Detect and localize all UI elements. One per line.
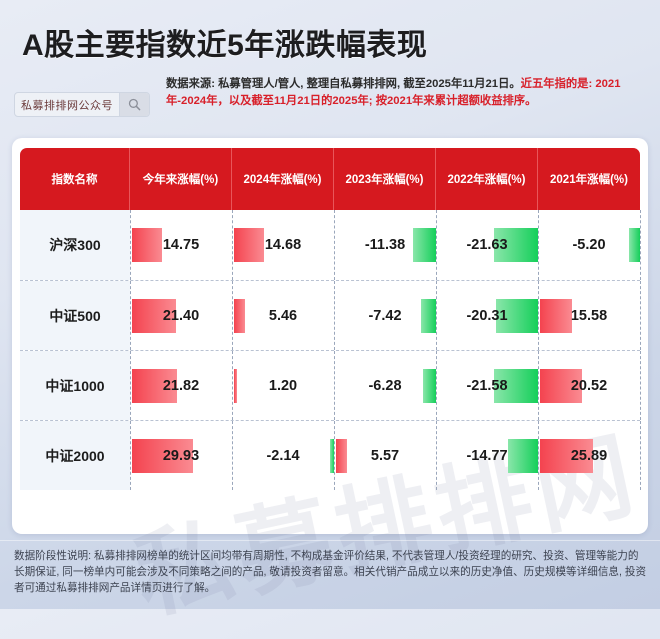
- value-label: -2.14: [232, 439, 334, 473]
- column-header-2023: 2023年涨幅(%): [334, 148, 436, 210]
- column-header-2021: 2021年涨幅(%): [538, 148, 640, 210]
- value-label: 1.20: [232, 369, 334, 403]
- column-header-2024: 2024年涨幅(%): [232, 148, 334, 210]
- value-label: -5.20: [538, 228, 640, 262]
- column-header-ytd: 今年来涨幅(%): [130, 148, 232, 210]
- value-label: 5.46: [232, 299, 334, 333]
- column-header-name: 指数名称: [20, 148, 130, 210]
- value-label: 5.57: [334, 439, 436, 473]
- table-body: 沪深30014.7514.68-11.38-21.63-5.20中证50021.…: [20, 210, 640, 524]
- footer-disclaimer: 数据阶段性说明: 私募排排网榜单的统计区间均带有周期性, 不构成基金评价结果, …: [14, 548, 648, 596]
- table-card: 指数名称 今年来涨幅(%) 2024年涨幅(%) 2023年涨幅(%) 2022…: [12, 138, 648, 534]
- zero-axis-line: [640, 281, 641, 350]
- value-label: -14.77: [436, 439, 538, 473]
- value-label: 15.58: [538, 299, 640, 333]
- subtitle-source: 数据来源: 私募管理人/管人, 整理自私募排排网, 截至2025年11月21日。: [166, 78, 521, 90]
- search-icon[interactable]: [119, 93, 149, 116]
- value-label: 25.89: [538, 439, 640, 473]
- zero-axis-line: [640, 351, 641, 420]
- table-header-row: 指数名称 今年来涨幅(%) 2024年涨幅(%) 2023年涨幅(%) 2022…: [20, 148, 640, 210]
- bar-layer: 29.93-2.145.57-14.7725.89: [20, 421, 640, 490]
- value-label: 14.75: [130, 228, 232, 262]
- value-label: 21.82: [130, 369, 232, 403]
- search-input[interactable]: 私募排排网公众号: [15, 93, 119, 116]
- table-row: 沪深30014.7514.68-11.38-21.63-5.20: [20, 210, 640, 280]
- value-label: 14.68: [232, 228, 334, 262]
- zero-axis-line: [640, 210, 641, 280]
- zero-axis-line: [640, 421, 641, 490]
- page-root: A股主要指数近5年涨跌幅表现 私募排排网公众号 数据来源: 私募管理人/管人, …: [0, 0, 660, 609]
- bar-layer: 21.405.46-7.42-20.3115.58: [20, 281, 640, 350]
- column-header-2022: 2022年涨幅(%): [436, 148, 538, 210]
- index-performance-table: 指数名称 今年来涨幅(%) 2024年涨幅(%) 2023年涨幅(%) 2022…: [20, 148, 640, 524]
- value-label: -20.31: [436, 299, 538, 333]
- table-row: 中证50021.405.46-7.42-20.3115.58: [20, 280, 640, 350]
- subtitle: 数据来源: 私募管理人/管人, 整理自私募排排网, 截至2025年11月21日。…: [166, 76, 636, 110]
- footer-divider: [0, 540, 660, 541]
- table-row: 中证100021.821.20-6.28-21.5820.52: [20, 350, 640, 420]
- bar-layer: 21.821.20-6.28-21.5820.52: [20, 351, 640, 420]
- value-label: -6.28: [334, 369, 436, 403]
- value-label: 21.40: [130, 299, 232, 333]
- value-label: 20.52: [538, 369, 640, 403]
- table-row: 中证200029.93-2.145.57-14.7725.89: [20, 420, 640, 490]
- search-box[interactable]: 私募排排网公众号: [14, 92, 150, 117]
- page-title: A股主要指数近5年涨跌幅表现: [22, 20, 427, 64]
- value-label: -21.58: [436, 369, 538, 403]
- value-label: -7.42: [334, 299, 436, 333]
- value-label: -11.38: [334, 228, 436, 262]
- bar-layer: 14.7514.68-11.38-21.63-5.20: [20, 210, 640, 280]
- value-label: 29.93: [130, 439, 232, 473]
- value-label: -21.63: [436, 228, 538, 262]
